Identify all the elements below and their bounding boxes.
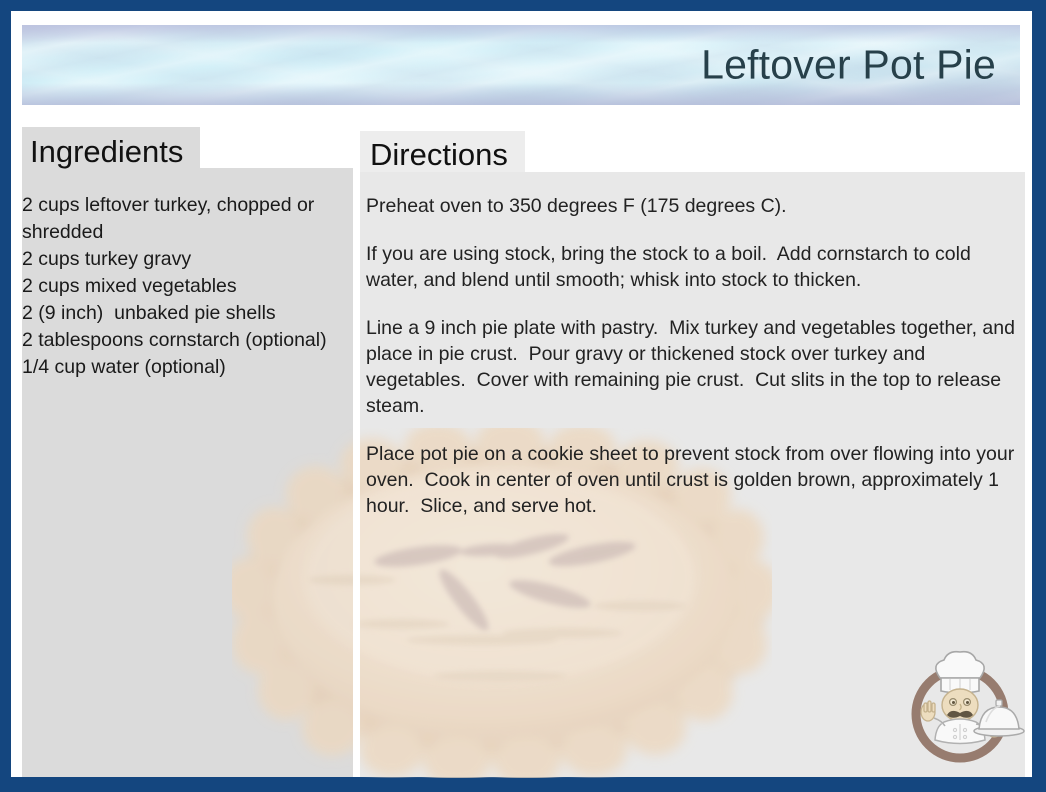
list-item: 2 cups leftover turkey, chopped or shred… — [22, 192, 358, 246]
ingredients-heading-box: Ingredients — [22, 127, 200, 168]
banner-top-shading — [22, 25, 1020, 43]
directions-heading-label: Directions — [370, 137, 508, 173]
list-item: 2 cups mixed vegetables — [22, 273, 358, 300]
chef-logo-icon — [900, 648, 1028, 776]
ingredients-heading-label: Ingredients — [30, 134, 183, 170]
directions-paragraph: Place pot pie on a cookie sheet to preve… — [366, 441, 1024, 519]
page-title: Leftover Pot Pie — [701, 42, 996, 89]
directions-paragraph: Line a 9 inch pie plate with pastry. Mix… — [366, 315, 1024, 419]
directions-paragraph: Preheat oven to 350 degrees F (175 degre… — [366, 193, 1024, 219]
left-margin-strip — [11, 11, 22, 777]
directions-heading-box: Directions — [360, 131, 525, 172]
directions-body: Preheat oven to 350 degrees F (175 degre… — [366, 193, 1024, 519]
ingredients-list: 2 cups leftover turkey, chopped or shred… — [22, 192, 358, 381]
list-item: 2 cups turkey gravy — [22, 246, 358, 273]
recipe-slide: Leftover Pot Pie — [0, 0, 1046, 792]
list-item: 2 tablespoons cornstarch (optional) — [22, 327, 358, 354]
directions-paragraph: If you are using stock, bring the stock … — [366, 241, 1024, 293]
list-item: 2 (9 inch) unbaked pie shells — [22, 300, 358, 327]
title-banner: Leftover Pot Pie — [22, 25, 1020, 105]
list-item: 1/4 cup water (optional) — [22, 354, 358, 381]
